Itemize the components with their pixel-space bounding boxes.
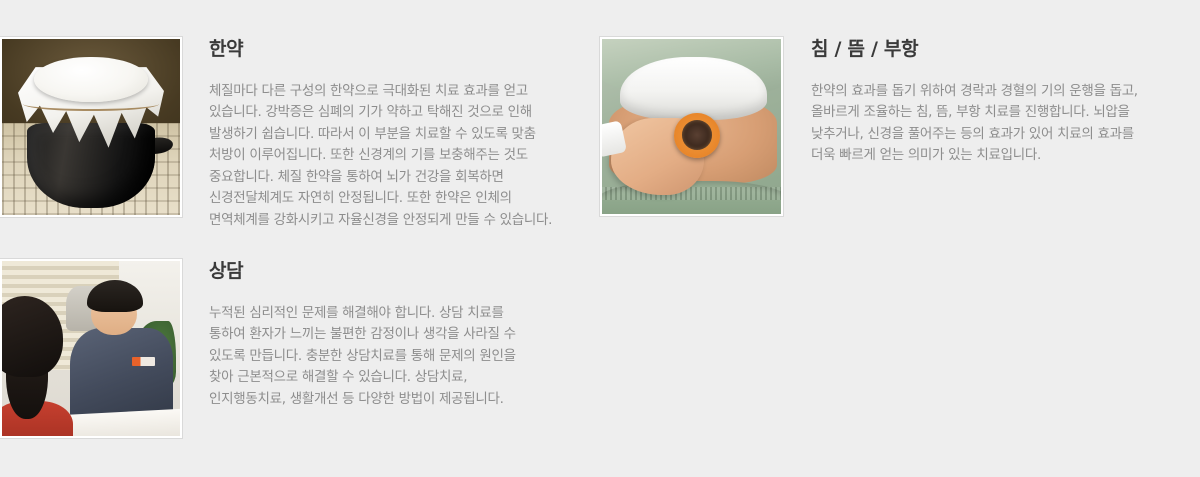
cupping-therapy-photo xyxy=(599,36,784,217)
cupping-therapy-photo-canvas xyxy=(602,39,781,214)
moxibustion-cup-icon xyxy=(674,113,721,159)
pot-lid xyxy=(34,57,148,103)
treatment-methods-page: 한약 체질마다 다른 구성의 한약으로 극대화된 치료 효과를 얻고 있습니다.… xyxy=(0,0,1200,477)
section-herbal: 한약 체질마다 다른 구성의 한약으로 극대화된 치료 효과를 얻고 있습니다.… xyxy=(209,38,609,231)
section-acupuncture-body: 한약의 효과를 돕기 위하여 경락과 경혈의 기의 운행을 돕고, 올바르게 조… xyxy=(811,81,1200,167)
doctor-uniform xyxy=(70,328,173,419)
consultation-photo-canvas xyxy=(2,261,180,436)
section-herbal-title: 한약 xyxy=(209,38,609,61)
section-counseling: 상담 누적된 심리적인 문제를 해결해야 합니다. 상담 치료를 통하여 환자가… xyxy=(209,260,609,410)
pot-string-tie xyxy=(23,97,158,111)
section-acupuncture-title: 침 / 뜸 / 부항 xyxy=(811,38,1200,61)
section-acupuncture: 침 / 뜸 / 부항 한약의 효과를 돕기 위하여 경락과 경혈의 기의 운행을… xyxy=(811,38,1200,167)
herbal-medicine-photo xyxy=(0,36,183,218)
patient-rolled-shirt xyxy=(620,57,767,120)
herbal-medicine-photo-canvas xyxy=(2,39,180,215)
section-herbal-body: 체질마다 다른 구성의 한약으로 극대화된 치료 효과를 얻고 있습니다. 강박… xyxy=(209,81,609,232)
consultation-photo xyxy=(0,258,183,439)
section-counseling-title: 상담 xyxy=(209,260,609,283)
doctor-name-badge xyxy=(132,357,155,366)
section-counseling-body: 누적된 심리적인 문제를 해결해야 합니다. 상담 치료를 통하여 환자가 느끼… xyxy=(209,303,609,411)
